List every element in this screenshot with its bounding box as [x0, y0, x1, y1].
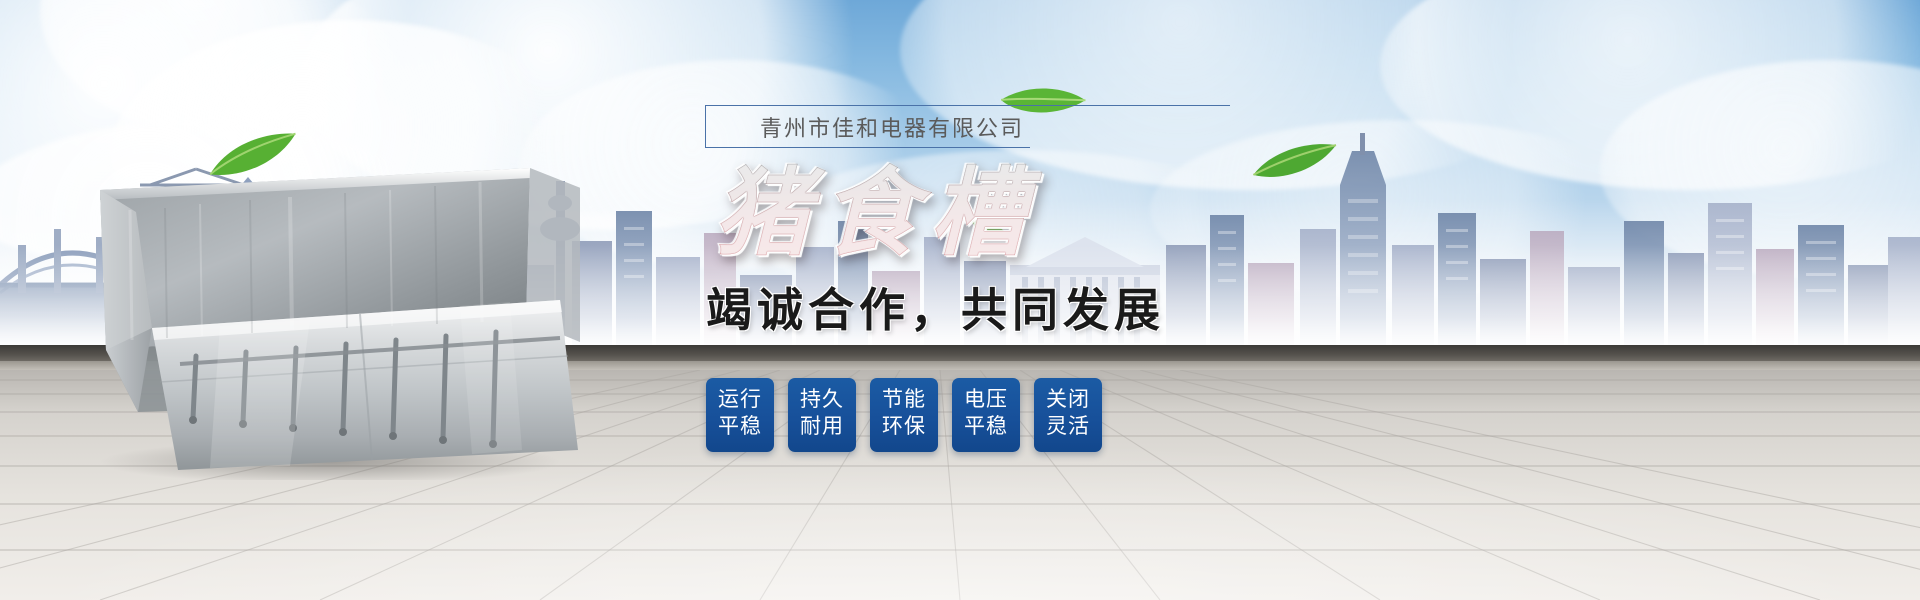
product-image-feeder-trough — [60, 150, 580, 480]
feature-badge-line1: 持久 — [788, 387, 856, 414]
feature-badge-line2: 灵活 — [1034, 414, 1102, 441]
feature-badge-line1: 电压 — [952, 387, 1020, 414]
page-title: 猪食槽 — [700, 163, 1260, 264]
feature-badge[interactable]: 运行 平稳 — [706, 378, 774, 452]
feature-badge[interactable]: 电压 平稳 — [952, 378, 1020, 452]
feature-badge-list: 运行 平稳 持久 耐用 节能 环保 电压 平稳 关闭 灵活 — [700, 378, 1260, 452]
feature-badge-line2: 平稳 — [952, 414, 1020, 441]
feature-badge-line1: 关闭 — [1034, 387, 1102, 414]
feature-badge[interactable]: 节能 环保 — [870, 378, 938, 452]
feature-badge-line2: 平稳 — [706, 414, 774, 441]
company-name-row: 青州市佳和电器有限公司 — [700, 95, 1260, 157]
feature-badge-line2: 环保 — [870, 414, 938, 441]
feature-badge-line2: 耐用 — [788, 414, 856, 441]
promo-banner: 青州市佳和电器有限公司 猪食槽 竭诚合作，共同发展 运行 平稳 持久 耐用 节能… — [0, 0, 1920, 600]
feature-badge-line1: 运行 — [706, 387, 774, 414]
feature-badge[interactable]: 持久 耐用 — [788, 378, 856, 452]
company-name: 青州市佳和电器有限公司 — [760, 111, 1024, 143]
banner-copy: 青州市佳和电器有限公司 猪食槽 竭诚合作，共同发展 运行 平稳 持久 耐用 节能… — [700, 95, 1260, 452]
banner-subtitle: 竭诚合作，共同发展 — [700, 274, 1260, 340]
decorative-bracket-underline — [705, 147, 770, 148]
feature-badge-line1: 节能 — [870, 387, 938, 414]
feature-badge[interactable]: 关闭 灵活 — [1034, 378, 1102, 452]
